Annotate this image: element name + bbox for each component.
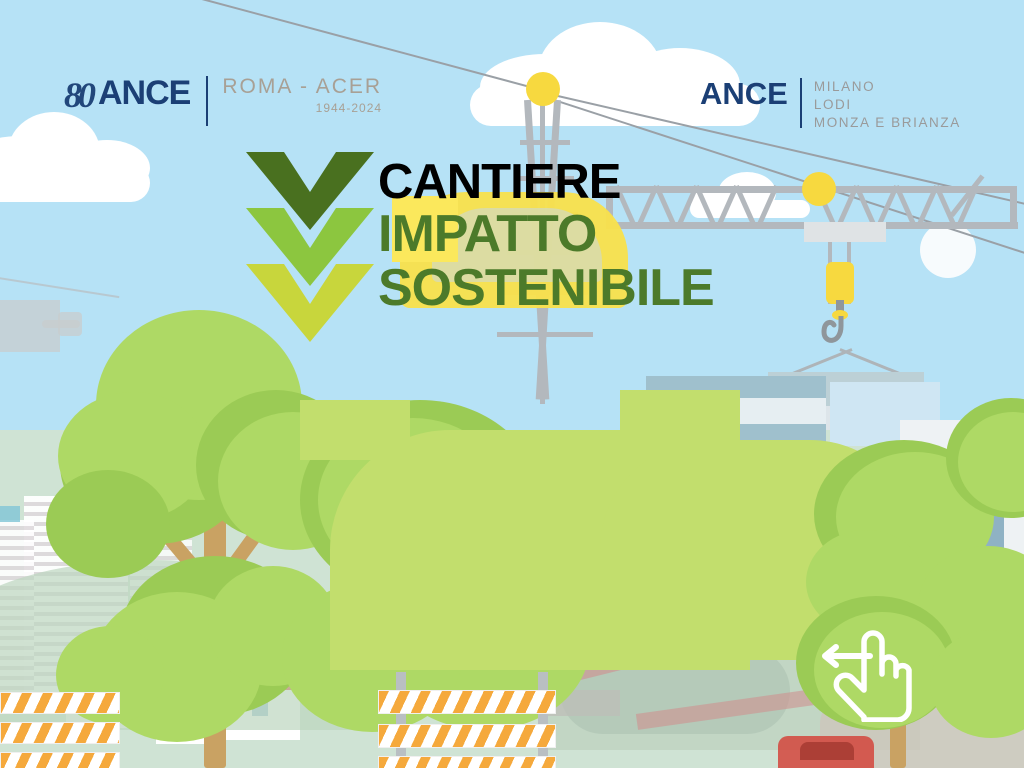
sun (920, 222, 976, 278)
crane-trolley-block (804, 222, 886, 242)
barrier-leg-right (538, 672, 548, 768)
crane-hook-block (826, 262, 854, 304)
logo-subtitle-monza: MONZA E BRIANZA (814, 114, 961, 132)
title-line-impatto: IMPATTO (378, 211, 714, 259)
barrier-left-plank-1 (0, 692, 120, 714)
crane-jib-web-v-end (1010, 186, 1017, 229)
barrier-plank-1 (378, 690, 556, 714)
building-left-accent (0, 506, 20, 522)
page-title: CANTIERE IMPATTO SOSTENIBILE (378, 160, 714, 313)
crane-mast-rung-1 (520, 140, 570, 145)
logo-divider-left (206, 76, 208, 126)
barrier-left-plank-2 (0, 722, 120, 744)
logo-ance-roma-acer[interactable]: 80 ANCE ROMA - ACER 1944-2024 (70, 76, 382, 126)
slide-canvas: 80 ANCE ROMA - ACER 1944-2024 ANCE MILAN… (0, 0, 1024, 768)
swipe-left-hand-icon[interactable] (812, 616, 918, 722)
crane-mast-rung-6 (497, 332, 593, 337)
logo-divider-right (800, 78, 802, 128)
title-line-cantiere: CANTIERE (378, 160, 714, 205)
chevron-down-light-icon (246, 264, 374, 342)
crane-apex-pulley (526, 72, 560, 106)
logo-ance-mark-left: ANCE (70, 76, 190, 110)
logo-years-roma: 1944-2024 (222, 101, 382, 115)
barrier-leg-left (396, 672, 406, 768)
barrier-plank-3 (378, 756, 556, 768)
barrier-left-plank-3 (0, 752, 120, 768)
logo-subtitle-lodi: LODI (814, 96, 961, 114)
green-mass-left-step (300, 400, 410, 460)
logo-subtitle-roma: ROMA - ACER (222, 76, 382, 98)
logo-subtitle-milano: MILANO (814, 78, 961, 96)
crane-trolley-pulley (802, 172, 836, 206)
logo-ance-mark-right: ANCE (700, 78, 788, 109)
barrier-plank-2 (378, 724, 556, 748)
car-cabin (800, 742, 854, 760)
green-mass-right-step (620, 390, 740, 460)
background-crane-left-head (58, 312, 82, 336)
title-line-sostenibile: SOSTENIBILE (378, 265, 714, 313)
logo-ance-milano[interactable]: ANCE MILANO LODI MONZA E BRIANZA (700, 78, 961, 131)
tree-main-leaf-shadow-3 (46, 470, 170, 578)
